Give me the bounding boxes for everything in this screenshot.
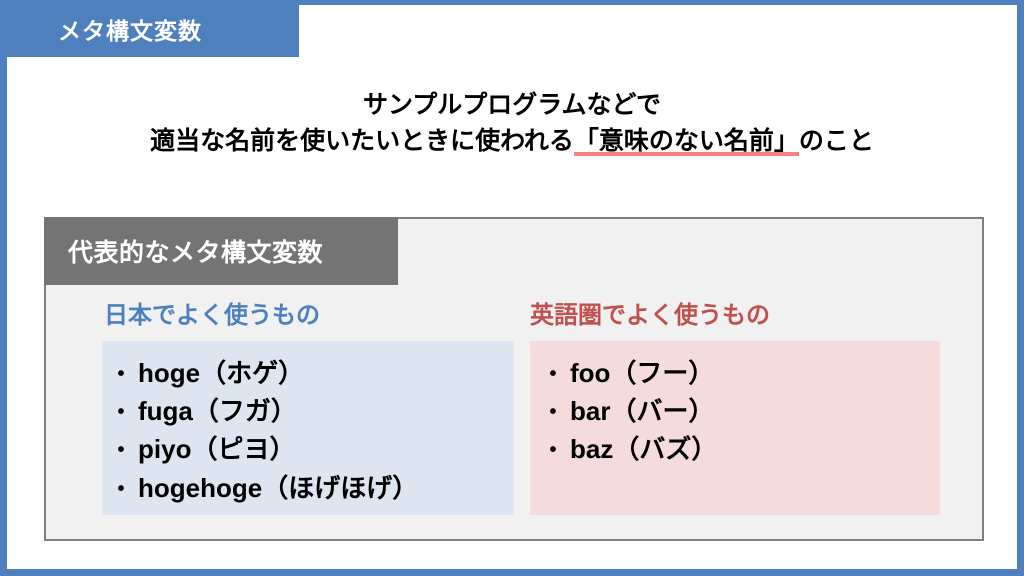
- slide: メタ構文変数 サンプルプログラムなどで 適当な名前を使いたいときに使われる「意味…: [0, 0, 1024, 576]
- examples-panel: 代表的なメタ構文変数 日本でよく使うもの • hoge（ホゲ） • fuga（フ…: [44, 217, 984, 541]
- slide-frame-left-border: [0, 0, 7, 576]
- slide-title-banner: メタ構文変数: [0, 0, 299, 57]
- slide-frame-bottom-border: [0, 569, 1024, 576]
- list-item: • foo（フー）: [530, 354, 930, 392]
- bullet-dot-icon: •: [536, 364, 570, 384]
- column-english-list: • foo（フー） • bar（バー） • baz（バズ）: [530, 354, 930, 469]
- lead-line-1: サンプルプログラムなどで: [0, 88, 1024, 124]
- list-item: • piyo（ピヨ）: [102, 430, 504, 468]
- bullet-dot-icon: •: [536, 440, 570, 460]
- slide-frame-right-border: [1017, 0, 1024, 576]
- column-english: 英語圏でよく使うもの • foo（フー） • bar（バー） •: [516, 287, 982, 539]
- list-item: • baz（バズ）: [530, 430, 930, 468]
- bullet-dot-icon: •: [104, 402, 138, 422]
- list-item-label: fuga（フガ）: [138, 392, 297, 430]
- examples-panel-header: 代表的なメタ構文変数: [44, 217, 398, 285]
- list-item: • fuga（フガ）: [102, 392, 504, 430]
- lead-line-2-after: のこと: [799, 127, 874, 155]
- lead-highlighted-phrase: 「意味のない名前」: [574, 127, 799, 156]
- list-item-label: hogehoge（ほげほげ）: [138, 469, 418, 507]
- list-item-label: bar（バー）: [570, 392, 714, 430]
- lead-line-2-before: 適当な名前を使いたいときに使われる: [150, 127, 574, 155]
- bullet-dot-icon: •: [536, 402, 570, 422]
- slide-title-text: メタ構文変数: [58, 12, 202, 46]
- column-japanese-body: • hoge（ホゲ） • fuga（フガ） • piyo（ピヨ） •: [102, 341, 514, 515]
- lead-line-2: 適当な名前を使いたいときに使われる「意味のない名前」のこと: [0, 124, 1024, 160]
- column-japanese-heading: 日本でよく使うもの: [102, 304, 516, 328]
- list-item: • bar（バー）: [530, 392, 930, 430]
- examples-columns: 日本でよく使うもの • hoge（ホゲ） • fuga（フガ） •: [46, 287, 982, 539]
- list-item: • hoge（ホゲ）: [102, 354, 504, 392]
- bullet-dot-icon: •: [104, 479, 138, 499]
- column-japanese-list: • hoge（ホゲ） • fuga（フガ） • piyo（ピヨ） •: [102, 354, 504, 507]
- column-english-body: • foo（フー） • bar（バー） • baz（バズ）: [530, 341, 940, 515]
- list-item-label: piyo（ピヨ）: [138, 430, 295, 468]
- lead-paragraph: サンプルプログラムなどで 適当な名前を使いたいときに使われる「意味のない名前」の…: [0, 88, 1024, 159]
- bullet-dot-icon: •: [104, 440, 138, 460]
- column-japanese: 日本でよく使うもの • hoge（ホゲ） • fuga（フガ） •: [46, 287, 516, 539]
- list-item: • hogehoge（ほげほげ）: [102, 469, 504, 507]
- list-item-label: baz（バズ）: [570, 430, 717, 468]
- examples-panel-header-text: 代表的なメタ構文変数: [68, 233, 323, 269]
- list-item-label: foo（フー）: [570, 354, 714, 392]
- slide-frame-top-border: [299, 0, 1024, 5]
- list-item-label: hoge（ホゲ）: [138, 354, 304, 392]
- column-english-heading: 英語圏でよく使うもの: [530, 304, 982, 328]
- bullet-dot-icon: •: [104, 364, 138, 384]
